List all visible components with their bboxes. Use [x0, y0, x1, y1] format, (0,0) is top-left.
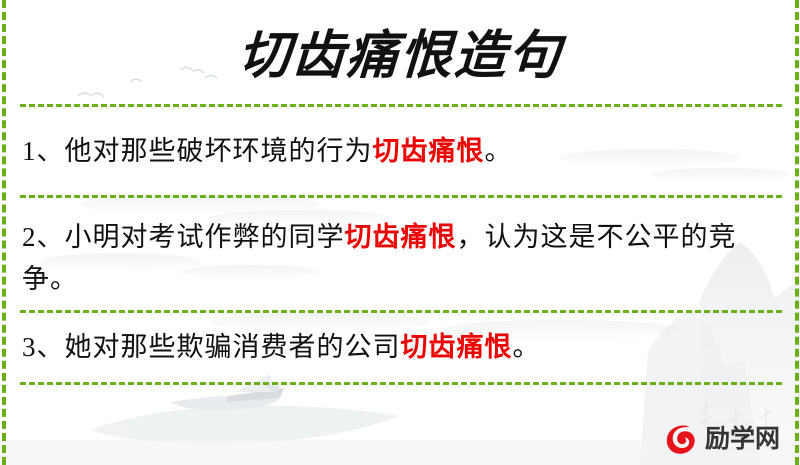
separator-below-title: [20, 104, 782, 107]
page-title-text: 切齿痛恨造句: [237, 31, 564, 83]
sentence-text-after-3: 。: [513, 332, 541, 362]
separator-below-sentence-3: [20, 382, 782, 385]
sentence-item-2: 2、小明对考试作弊的同学切齿痛恨，认为这是不公平的竞争。: [22, 216, 776, 300]
site-logo-text: 励学网: [705, 427, 780, 452]
sentence-index-1: 1、: [22, 136, 65, 166]
separator-below-sentence-1: [20, 195, 782, 198]
sentence-item-3: 3、她对那些欺骗消费者的公司切齿痛恨。: [22, 326, 776, 368]
frame-border-left: [2, 0, 6, 465]
sentence-text-before-2: 小明对考试作弊的同学: [65, 222, 345, 252]
site-logo[interactable]: 励学网: [662, 418, 790, 460]
page-title: 切齿痛恨造句: [0, 18, 800, 96]
separator-below-sentence-2: [20, 310, 782, 313]
flame-swirl-icon: [662, 421, 698, 457]
sentence-item-1: 1、他对那些破坏环境的行为切齿痛恨。: [22, 130, 776, 172]
sentence-index-2: 2、: [22, 222, 65, 252]
idiom-highlight-3: 切齿痛恨: [401, 332, 513, 362]
sentence-text-before-3: 她对那些欺骗消费者的公司: [65, 332, 401, 362]
sentence-text-after-1: 。: [485, 136, 513, 166]
idiom-highlight-1: 切齿痛恨: [373, 136, 485, 166]
sentence-index-3: 3、: [22, 332, 65, 362]
worksheet-page: 切齿痛恨造句 1、他对那些破坏环境的行为切齿痛恨。 2、小明对考试作弊的同学切齿…: [0, 0, 800, 465]
frame-border-right: [795, 0, 799, 465]
sentence-text-before-1: 他对那些破坏环境的行为: [65, 136, 373, 166]
idiom-highlight-2: 切齿痛恨: [345, 222, 457, 252]
